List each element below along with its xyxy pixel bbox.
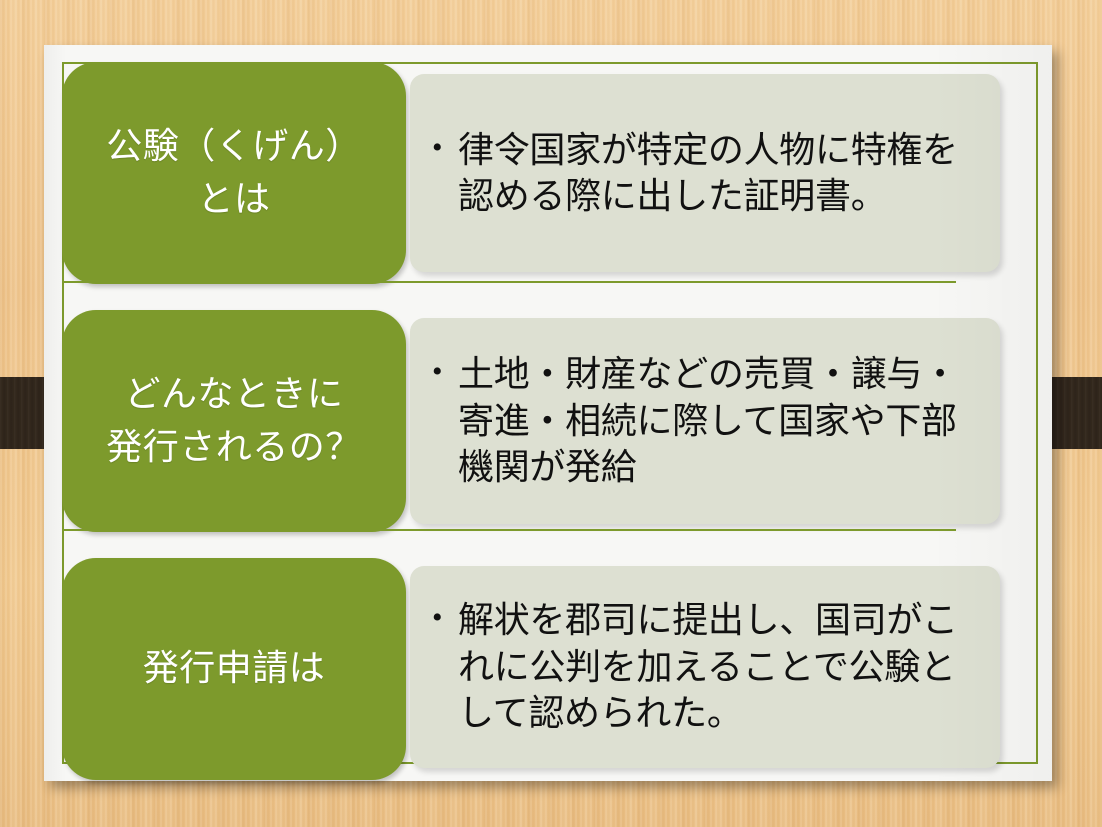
row-1-label-text: 公験（くげん） とは xyxy=(92,120,376,227)
diagram-row-2: どんなときに 発行されるの？ • 土地・財産などの売買・譲与・寄進・相続に際して… xyxy=(44,310,1052,532)
row-1-label-box[interactable]: 公験（くげん） とは xyxy=(62,62,406,284)
row-1-bullet-box[interactable]: • 律令国家が特定の人物に特権を認める際に出した証明書。 xyxy=(410,74,1000,272)
row-1-bullet-row: • 律令国家が特定の人物に特権を認める際に出した証明書。 xyxy=(410,127,1000,220)
row-1-label-line-2: とは xyxy=(197,179,270,219)
row-3-bullet-text: 解状を郡司に提出し、国司がこれに公判を加えることで公験として認められた。 xyxy=(458,597,984,736)
row-2-label-text: どんなときに 発行されるの？ xyxy=(92,368,376,475)
bullet-point-icon: • xyxy=(432,353,458,391)
row-3-label-line-1: 発行申請は xyxy=(143,648,326,688)
bullet-point-icon: • xyxy=(432,129,458,167)
row-2-label-box[interactable]: どんなときに 発行されるの？ xyxy=(62,310,406,532)
row-3-label-box[interactable]: 発行申請は xyxy=(62,558,406,780)
row-2-label-line-2: 発行されるの？ xyxy=(106,427,362,467)
row-1-label-line-1: 公験（くげん） xyxy=(106,126,362,166)
diagram-row-1: 公験（くげん） とは • 律令国家が特定の人物に特権を認める際に出した証明書。 xyxy=(44,62,1052,284)
slide-canvas: 公験（くげん） とは • 律令国家が特定の人物に特権を認める際に出した証明書。 … xyxy=(0,0,1102,827)
row-divider-1 xyxy=(62,281,956,283)
row-3-bullet-row: • 解状を郡司に提出し、国司がこれに公判を加えることで公験として認められた。 xyxy=(410,597,1000,736)
diagram-rows: 公験（くげん） とは • 律令国家が特定の人物に特権を認める際に出した証明書。 … xyxy=(44,45,1052,781)
row-2-bullet-box[interactable]: • 土地・財産などの売買・譲与・寄進・相続に際して国家や下部機関が発給 xyxy=(410,318,1000,524)
row-3-label-text: 発行申請は xyxy=(129,642,340,695)
row-1-bullet-text: 律令国家が特定の人物に特権を認める際に出した証明書。 xyxy=(458,127,984,220)
row-3-bullet-box[interactable]: • 解状を郡司に提出し、国司がこれに公判を加えることで公験として認められた。 xyxy=(410,566,1000,768)
bullet-point-icon: • xyxy=(432,599,458,637)
row-2-bullet-text: 土地・財産などの売買・譲与・寄進・相続に際して国家や下部機関が発給 xyxy=(458,351,984,490)
row-2-label-line-1: どんなときに xyxy=(124,374,343,414)
row-divider-2 xyxy=(62,529,956,531)
diagram-row-3: 発行申請は • 解状を郡司に提出し、国司がこれに公判を加えることで公験として認め… xyxy=(44,558,1052,780)
row-2-bullet-row: • 土地・財産などの売買・譲与・寄進・相続に際して国家や下部機関が発給 xyxy=(410,351,1000,490)
content-panel: 公験（くげん） とは • 律令国家が特定の人物に特権を認める際に出した証明書。 … xyxy=(44,45,1052,781)
